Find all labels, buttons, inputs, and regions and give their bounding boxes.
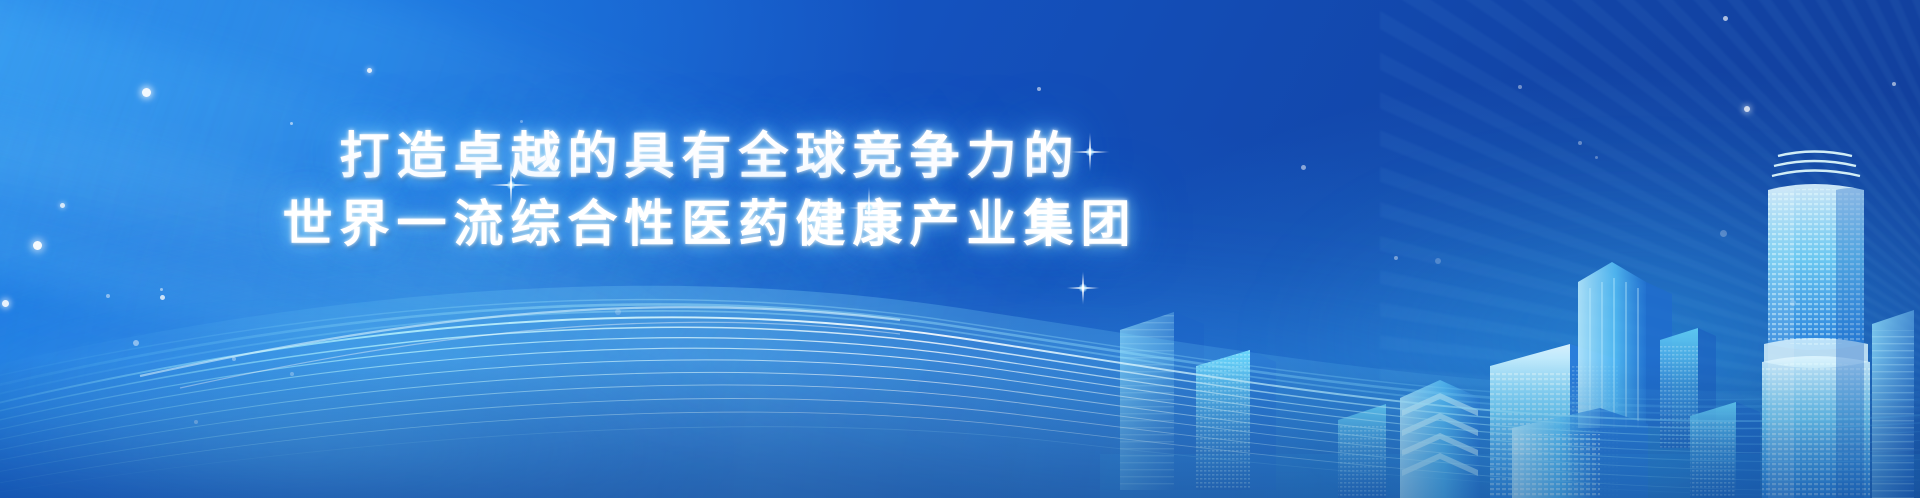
- particle-dot: [106, 294, 110, 298]
- particle-dot: [194, 420, 198, 424]
- particle-dot: [160, 295, 165, 300]
- particle-dot: [1723, 16, 1728, 21]
- particle-dot: [142, 88, 151, 97]
- particle-dot: [60, 203, 65, 208]
- particle-dot: [1892, 82, 1896, 86]
- particle-dot: [2, 300, 9, 307]
- particle-dot: [615, 309, 621, 315]
- hero-banner: 打造卓越的具有全球竞争力的 世界一流综合性医药健康产业集团: [0, 0, 1920, 498]
- light-band-2: [0, 0, 1214, 498]
- particle-dot: [1720, 230, 1727, 237]
- headline-line-2: 世界一流综合性医药健康产业集团: [0, 190, 1420, 258]
- headline-block: 打造卓越的具有全球竞争力的 世界一流综合性医药健康产业集团: [0, 122, 1420, 258]
- light-band-glow: [0, 0, 705, 498]
- wave-mass-1: [0, 125, 1004, 498]
- wave-mass-2: [512, 207, 1777, 498]
- particle-dot: [160, 288, 163, 291]
- particle-dot: [1595, 156, 1598, 159]
- light-fan-pattern: [1380, 0, 1920, 420]
- particle-dot: [1037, 87, 1041, 91]
- particle-dot: [33, 241, 42, 250]
- light-band-1: [0, 0, 1078, 465]
- light-band-3: [0, 10, 1371, 498]
- particle-dot: [1790, 300, 1796, 306]
- particle-dot: [290, 122, 293, 125]
- headline-line-1: 打造卓越的具有全球竞争力的: [0, 122, 1420, 190]
- particle-dot: [1744, 106, 1750, 112]
- particle-dot: [1518, 85, 1522, 89]
- light-band-4: [0, 130, 1450, 498]
- particle-dot: [133, 340, 139, 346]
- particle-dot: [232, 357, 236, 361]
- light-streams: [0, 198, 1920, 498]
- particle-dot: [367, 68, 372, 73]
- particle-dot: [1301, 165, 1306, 170]
- particle-dot: [520, 120, 523, 123]
- particle-dot: [1578, 141, 1582, 145]
- wave-mass-4: [1250, 150, 1920, 498]
- city-skyline: [1100, 98, 1920, 498]
- particle-dot: [290, 372, 294, 376]
- bottom-vignette: [0, 358, 1920, 498]
- particle-dot: [1394, 256, 1398, 260]
- wave-mass-3: [0, 330, 750, 498]
- particle-dot: [1435, 258, 1441, 264]
